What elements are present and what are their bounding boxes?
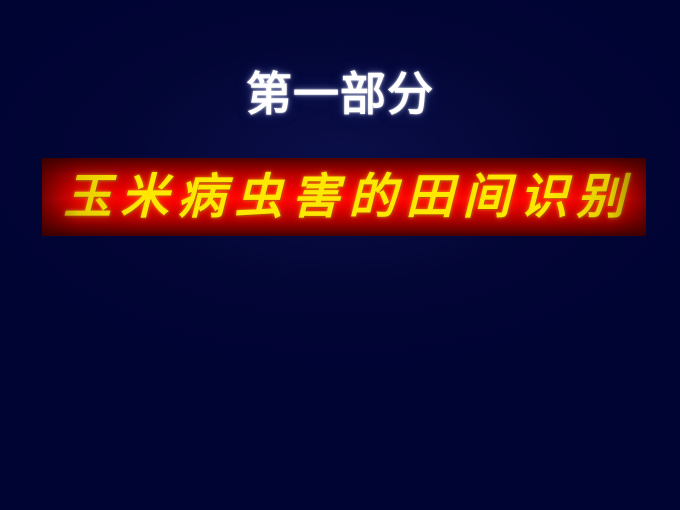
page-title: 第一部分 xyxy=(0,66,680,122)
presentation-slide: 第一部分 玉米病虫害的田间识别 xyxy=(0,0,680,510)
banner-title-text: 玉米病虫害的田间识别 xyxy=(42,169,646,225)
title-banner: 玉米病虫害的田间识别 xyxy=(42,158,646,236)
